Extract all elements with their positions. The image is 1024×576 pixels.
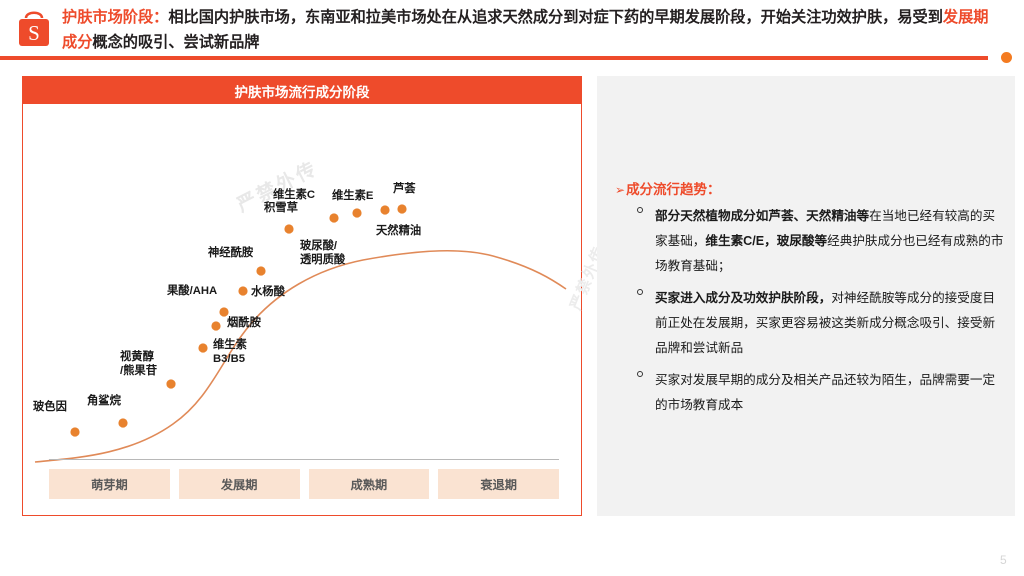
curve-data-point	[166, 379, 175, 388]
ingredient-label: 水杨酸	[251, 285, 285, 299]
bullet-circle-icon	[637, 371, 643, 377]
title-segment-plain-2: 概念的吸引、尝试新品牌	[92, 34, 259, 51]
curve-data-point	[198, 343, 207, 352]
slide-canvas: S 护肤市场阶段：相比国内护肤市场，东南亚和拉美市场处在从追求天然成分到对症下药…	[0, 0, 1024, 576]
ingredient-label: 芦荟	[393, 182, 416, 196]
stage-box: 萌芽期	[49, 469, 170, 499]
svg-text:S: S	[28, 21, 40, 45]
chart-card-title: 护肤市场流行成分阶段	[23, 77, 581, 104]
insights-panel: ➢成分流行趋势： 部分天然植物成分如芦荟、天然精油等在当地已经有较高的买家基础，…	[597, 76, 1015, 516]
shopee-bag-logo: S	[14, 6, 54, 50]
curve-data-point	[329, 213, 338, 222]
curve-data-point	[70, 427, 79, 436]
ingredient-label: 天然精油	[376, 224, 421, 238]
curve-data-point	[238, 286, 247, 295]
insights-bullet-item: 部分天然植物成分如芦荟、天然精油等在当地已经有较高的买家基础，维生素C/E，玻尿…	[637, 204, 1005, 279]
ingredient-label: 积雪草	[264, 201, 298, 215]
stage-bar: 萌芽期 发展期 成熟期 衰退期	[49, 469, 559, 499]
curve-data-point	[380, 205, 389, 214]
chart-axis-line	[49, 459, 559, 460]
insights-bullet-text: 买家进入成分及功效护肤阶段，对神经酰胺等成分的接受度目前正处在发展期，买家更容易…	[655, 291, 995, 355]
curve-data-point	[118, 418, 127, 427]
header-divider-rule	[0, 56, 988, 60]
arrow-right-icon: ➢	[615, 183, 625, 197]
insights-heading-label: 成分流行趋势：	[626, 182, 721, 197]
ingredient-label: 玻尿酸/透明质酸	[300, 239, 345, 267]
insights-heading: ➢成分流行趋势：	[615, 178, 721, 198]
title-segment-plain-1: 相比国内护肤市场，东南亚和拉美市场处在从追求天然成分到对症下药的早期发展阶段，开…	[168, 9, 943, 26]
ingredient-label: 果酸/AHA	[167, 284, 217, 298]
ingredient-label: 玻色因	[33, 400, 67, 414]
slide-header: S 护肤市场阶段：相比国内护肤市场，东南亚和拉美市场处在从追求天然成分到对症下药…	[0, 0, 1024, 58]
curve-data-point	[211, 321, 220, 330]
page-number: 5	[1000, 553, 1007, 567]
curve-data-point	[397, 204, 406, 213]
ingredient-label: 维生素B3/B5	[213, 338, 247, 366]
bullet-run-plain: 买家对发展早期的成分及相关产品还较为陌生，品牌需要一定的市场教育成本	[655, 373, 995, 412]
ingredient-label: 神经酰胺	[208, 246, 253, 260]
stage-box: 发展期	[179, 469, 300, 499]
header-accent-dot	[1001, 52, 1012, 63]
ingredient-label: 烟酰胺	[227, 316, 261, 330]
curve-data-point	[284, 224, 293, 233]
stage-box: 成熟期	[309, 469, 430, 499]
insights-bullet-text: 部分天然植物成分如芦荟、天然精油等在当地已经有较高的买家基础，维生素C/E，玻尿…	[655, 209, 1003, 273]
bullet-run-bold: 部分天然植物成分如芦荟、天然精油等	[655, 209, 869, 223]
s-curve-plot	[23, 104, 583, 484]
curve-data-point	[256, 266, 265, 275]
bullet-circle-icon	[637, 207, 643, 213]
stage-box: 衰退期	[438, 469, 559, 499]
chart-card: 护肤市场流行成分阶段 严禁外传 严禁外传 玻色因角鲨烷视黄醇/熊果苷维生素B3/…	[22, 76, 582, 516]
insights-bullet-item: 买家对发展早期的成分及相关产品还较为陌生，品牌需要一定的市场教育成本	[637, 368, 1005, 418]
ingredient-label: 维生素C	[273, 188, 315, 202]
insights-bullet-list: 部分天然植物成分如芦荟、天然精油等在当地已经有较高的买家基础，维生素C/E，玻尿…	[637, 204, 1005, 425]
bullet-circle-icon	[637, 289, 643, 295]
title-segment-accent-1: 护肤市场阶段：	[62, 9, 168, 26]
ingredient-label: 角鲨烷	[87, 394, 121, 408]
curve-data-point	[352, 208, 361, 217]
bullet-run-bold: 买家进入成分及功效护肤阶段，	[655, 291, 831, 305]
insights-bullet-text: 买家对发展早期的成分及相关产品还较为陌生，品牌需要一定的市场教育成本	[655, 373, 995, 412]
bullet-run-bold: 维生素C/E，玻尿酸等	[705, 234, 827, 248]
ingredient-label: 维生素E	[332, 189, 373, 203]
page-title: 护肤市场阶段：相比国内护肤市场，东南亚和拉美市场处在从追求天然成分到对症下药的早…	[62, 5, 992, 55]
insights-bullet-item: 买家进入成分及功效护肤阶段，对神经酰胺等成分的接受度目前正处在发展期，买家更容易…	[637, 286, 1005, 361]
ingredient-label: 视黄醇/熊果苷	[120, 350, 157, 378]
